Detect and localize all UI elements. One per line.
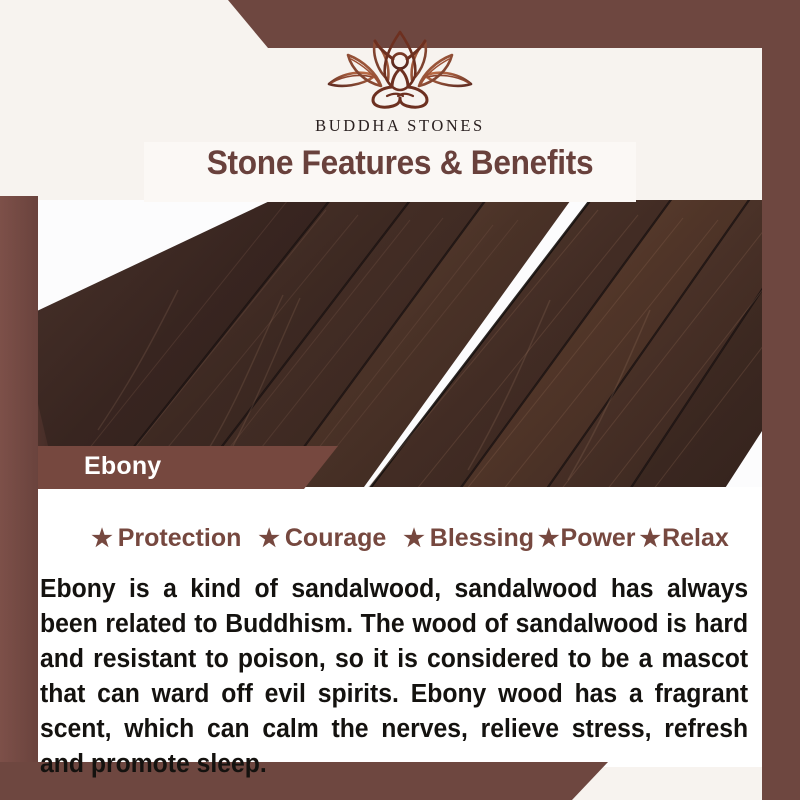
feature-item-power: ★ Power <box>538 524 636 553</box>
star-icon: ★ <box>403 527 425 551</box>
feature-label: Power <box>561 524 636 553</box>
product-label-text: Ebony <box>84 452 161 481</box>
page-title: Stone Features & Benefits <box>28 144 772 183</box>
feature-item-courage: ★ Courage <box>258 524 386 553</box>
feature-list: ★ Protection ★ Courage ★ Blessing ★ Powe… <box>38 524 782 553</box>
feature-item-blessing: ★ Blessing <box>403 524 534 553</box>
frame-band-left-shade <box>0 196 38 800</box>
feature-label: Protection <box>118 524 242 553</box>
feature-label: Blessing <box>430 524 534 553</box>
brand-name: BUDDHA STONES <box>0 116 800 136</box>
description-text: Ebony is a kind of sandalwood, sandalwoo… <box>40 572 748 782</box>
feature-item-relax: ★ Relax <box>640 524 729 553</box>
product-label-banner <box>38 446 338 489</box>
feature-label: Courage <box>285 524 386 553</box>
feature-label: Relax <box>662 524 729 553</box>
star-icon: ★ <box>640 527 662 551</box>
brand-logo: BUDDHA STONES <box>0 28 800 136</box>
infographic-card: BUDDHA STONES Stone Features & Benefits … <box>0 0 800 800</box>
lotus-meditation-icon <box>315 28 485 112</box>
star-icon: ★ <box>258 527 280 551</box>
star-icon: ★ <box>538 527 560 551</box>
feature-item-protection: ★ Protection <box>91 524 241 553</box>
star-icon: ★ <box>91 527 113 551</box>
